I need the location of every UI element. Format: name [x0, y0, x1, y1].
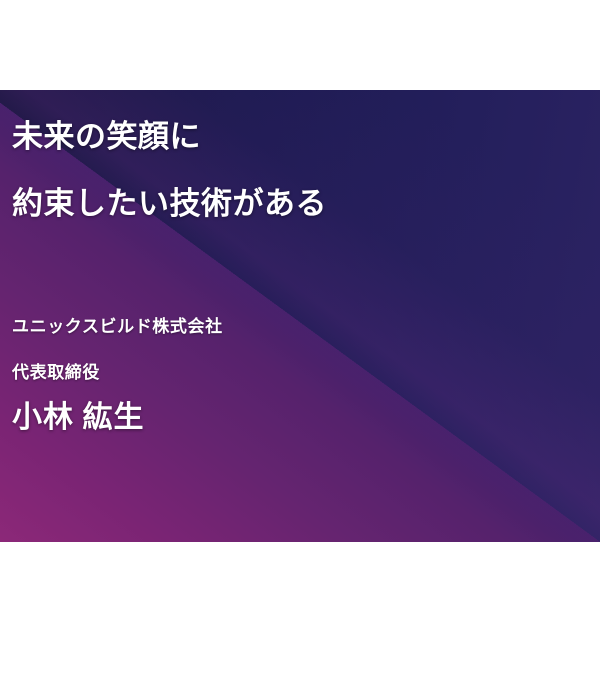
headline-line-1: 未来の笑顔に: [12, 120, 201, 154]
page-root: 未来の笑顔に 約束したい技術がある ユニックスビルド株式会社 代表取締役 小林 …: [0, 0, 600, 693]
headline-line-2: 約束したい技術がある: [12, 187, 327, 221]
hero-banner: 未来の笑顔に 約束したい技術がある ユニックスビルド株式会社 代表取締役 小林 …: [0, 90, 600, 542]
company-name: ユニックスビルド株式会社: [12, 312, 223, 337]
top-whitespace: [0, 0, 600, 90]
hero-content: 未来の笑顔に 約束したい技術がある ユニックスビルド株式会社 代表取締役 小林 …: [0, 90, 600, 542]
bottom-whitespace: [0, 542, 600, 693]
person-role: 代表取締役: [12, 358, 100, 383]
person-name: 小林 紘生: [12, 392, 145, 436]
